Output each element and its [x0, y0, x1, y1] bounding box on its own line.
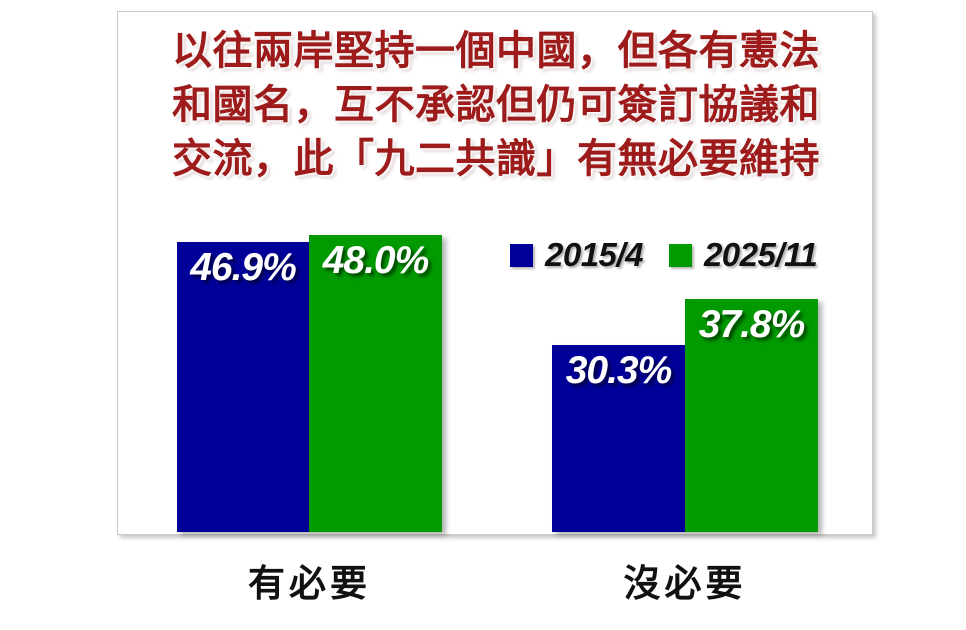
- bar-value-meibiyao-2015: 30.3%: [552, 349, 685, 393]
- plot-frame: 以往兩岸堅持一個中國，但各有憲法 和國名，互不承認但仍可簽訂協議和 交流，此「九…: [117, 11, 873, 535]
- legend-item-2015[interactable]: 2015/4: [510, 236, 643, 274]
- chart-title: 以往兩岸堅持一個中國，但各有憲法 和國名，互不承認但仍可簽訂協議和 交流，此「九…: [128, 24, 864, 186]
- legend-swatch-icon-2015: [510, 244, 533, 267]
- bar-value-meibiyao-2025: 37.8%: [685, 303, 818, 347]
- legend-label-2015: 2015/4: [545, 236, 643, 274]
- bar-youbiyao-2025[interactable]: 48.0%: [309, 235, 442, 532]
- bar-youbiyao-2015[interactable]: 46.9%: [177, 242, 309, 532]
- bar-meibiyao-2025[interactable]: 37.8%: [685, 299, 818, 532]
- chart-legend: 2015/4 2025/11: [510, 236, 817, 274]
- chart-title-line-3: 交流，此「九二共識」有無必要維持: [128, 132, 864, 186]
- chart-title-line-1: 以往兩岸堅持一個中國，但各有憲法: [128, 24, 864, 78]
- category-label-meibiyao: 沒必要: [552, 560, 818, 606]
- bar-value-youbiyao-2025: 48.0%: [309, 239, 442, 283]
- chart-canvas: 以往兩岸堅持一個中國，但各有憲法 和國名，互不承認但仍可簽訂協議和 交流，此「九…: [0, 0, 966, 630]
- category-label-youbiyao: 有必要: [177, 560, 442, 606]
- legend-item-2025[interactable]: 2025/11: [669, 236, 817, 274]
- bar-value-youbiyao-2015: 46.9%: [177, 246, 309, 290]
- chart-title-line-2: 和國名，互不承認但仍可簽訂協議和: [128, 78, 864, 132]
- bar-meibiyao-2015[interactable]: 30.3%: [552, 345, 685, 532]
- legend-label-2025: 2025/11: [704, 236, 817, 274]
- legend-swatch-icon-2025: [669, 244, 692, 267]
